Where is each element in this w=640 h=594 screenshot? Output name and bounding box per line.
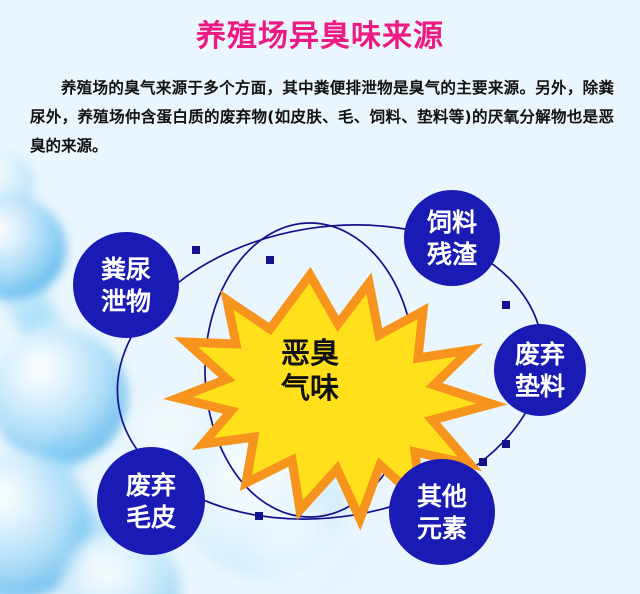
node-waste-fur[interactable]: 废弃 毛皮	[97, 447, 205, 555]
orbit-handle	[502, 440, 510, 448]
node-circle[interactable]	[389, 459, 495, 565]
node-manure[interactable]: 粪尿 泄物	[73, 232, 179, 338]
node-bedding-line2: 垫料	[515, 372, 565, 401]
burst-label-line1: 恶臭	[281, 336, 339, 370]
node-manure-line1: 粪尿	[101, 255, 151, 284]
orbit-handle	[192, 246, 200, 254]
node-waste-bedding[interactable]: 废弃 垫料	[494, 324, 586, 416]
orbit-handle	[266, 256, 274, 264]
node-other-elements[interactable]: 其他 元素	[389, 459, 495, 565]
orbit-handle	[502, 301, 510, 309]
node-bedding-line1: 废弃	[515, 340, 565, 369]
node-feed-residue[interactable]: 饲料 残渣	[404, 190, 500, 286]
node-fur-line1: 废弃	[126, 471, 176, 500]
page-title: 养殖场异臭味来源	[0, 18, 640, 56]
node-other-line1: 其他	[417, 482, 467, 511]
node-fur-line2: 毛皮	[126, 503, 176, 532]
node-circle[interactable]	[73, 232, 179, 338]
node-manure-line2: 泄物	[101, 287, 151, 316]
node-feed-line1: 饲料	[426, 208, 477, 237]
burst-label-line2: 气味	[280, 371, 339, 405]
node-circle[interactable]	[404, 190, 500, 286]
orbit-handle	[479, 458, 487, 466]
odor-source-diagram: 恶臭 气味 粪尿 泄物 饲料 残渣 废弃 垫料	[0, 172, 640, 594]
node-feed-line2: 残渣	[427, 240, 478, 269]
node-other-line2: 元素	[417, 514, 467, 543]
node-circle[interactable]	[97, 447, 205, 555]
intro-paragraph: 养殖场的臭气来源于多个方面，其中粪便排泄物是臭气的主要来源。另外，除粪尿外，养殖…	[30, 74, 614, 161]
node-circle[interactable]	[494, 324, 586, 416]
orbit-handle	[255, 512, 263, 520]
poster-root: 养殖场异臭味来源 养殖场的臭气来源于多个方面，其中粪便排泄物是臭气的主要来源。另…	[0, 0, 640, 594]
